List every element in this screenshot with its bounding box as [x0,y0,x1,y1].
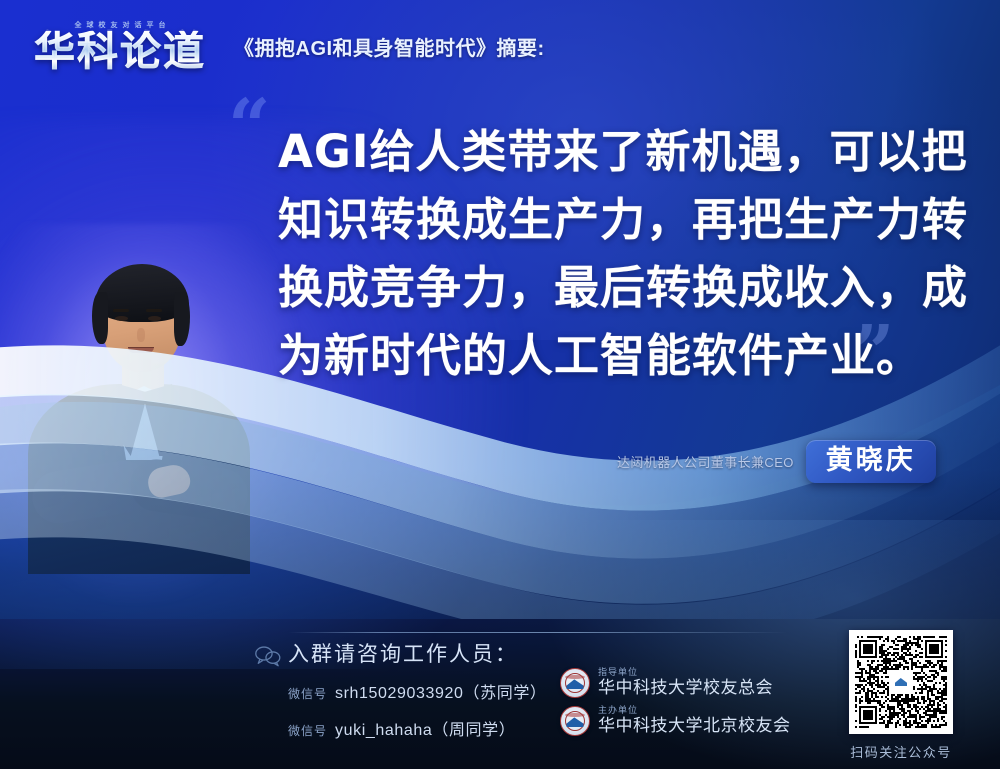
portrait-eye-right [148,316,161,321]
contact-value: yuki_hahaha（周同学） [335,716,515,740]
quote-line: 知识转换成生产力，再把生产力转 [278,186,950,254]
contact-row: 微信号 yuki_hahaha（周同学） [288,716,515,740]
contact-row: 微信号 srh15029033920（苏同学） [288,679,547,703]
footer-divider [288,632,788,633]
speaker-name-badge: 黄晓庆 [806,440,936,483]
portrait-hair-left [92,292,108,344]
organizer-list: 指导单位 华中科技大学校友总会 主办单位 华中科技大学北京校友会 [560,668,791,744]
poster-header: 全球校友对话平台 华科论道 《拥抱AGI和具身智能时代》摘要: [0,0,1000,92]
portrait-brow-left [113,309,129,312]
portrait-brow-right [146,309,162,312]
organizer-kind: 主办单位 [598,706,791,716]
organizer-name: 华中科技大学北京校友会 [598,717,791,736]
contact-label: 微信号 [288,722,327,739]
wechat-icon [255,645,281,667]
contact-title: 入群请咨询工作人员： [288,638,518,668]
brand-logo-text: 华科论道 [34,31,206,72]
speaker-role: 达闼机器人公司董事长兼CEO [617,452,794,471]
organizer-item: 主办单位 华中科技大学北京校友会 [560,706,791,736]
university-seal-icon [560,706,590,736]
quote-open-mark: “ [228,90,271,164]
portrait-nose [137,328,145,342]
quote-block: AGI给人类带来了新机遇，可以把 知识转换成生产力，再把生产力转 换成竞争力，最… [278,118,950,390]
speaker-attribution: 达闼机器人公司董事长兼CEO 黄晓庆 [617,440,936,483]
qr-block: 扫码关注公众号 [845,630,957,761]
organizer-name: 华中科技大学校友总会 [598,679,773,698]
speaker-portrait [18,268,256,568]
university-seal-icon [560,668,590,698]
portrait-eye-left [115,316,128,321]
portrait-mouth [128,347,154,353]
organizer-item: 指导单位 华中科技大学校友总会 [560,668,791,698]
quote-line: 为新时代的人工智能软件产业。 [278,322,950,390]
organizer-kind: 指导单位 [598,668,773,678]
qr-center-logo-icon [891,672,911,692]
page-title: 《拥抱AGI和具身智能时代》摘要: [234,32,545,61]
quote-line: AGI给人类带来了新机遇，可以把 [278,118,950,186]
poster-canvas: 全球校友对话平台 华科论道 《拥抱AGI和具身智能时代》摘要: “ AGI给人类… [0,0,1000,769]
quote-line: 换成竞争力，最后转换成收入，成 [278,254,950,322]
contact-label: 微信号 [288,685,327,702]
brand-logo: 全球校友对话平台 华科论道 [24,15,216,77]
contact-value: srh15029033920（苏同学） [335,679,547,703]
qr-caption: 扫码关注公众号 [845,742,957,761]
qr-code[interactable] [849,630,953,734]
